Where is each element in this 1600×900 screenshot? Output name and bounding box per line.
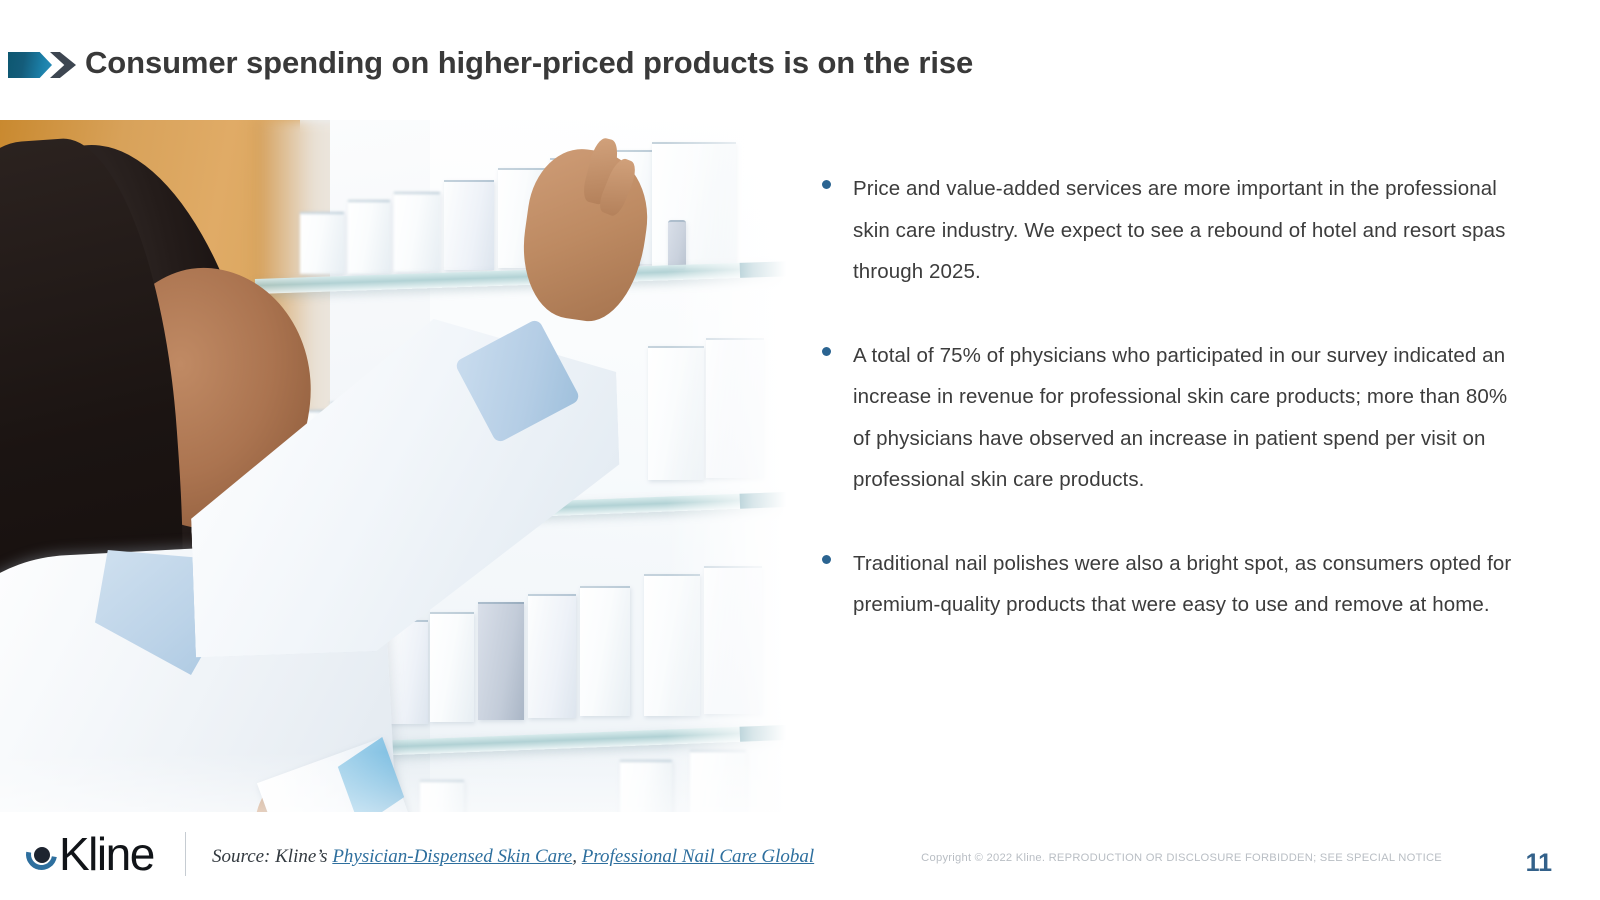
product-box (348, 200, 390, 274)
list-item: A total of 75% of physicians who partici… (822, 335, 1512, 501)
bullet-text: A total of 75% of physicians who partici… (853, 335, 1512, 501)
hero-photo (0, 120, 786, 812)
product-box (430, 612, 474, 722)
bullet-dot-icon (822, 555, 831, 564)
kline-logo: Kline (26, 830, 154, 878)
kline-logo-mark-icon (26, 836, 62, 872)
source-line: Source: Kline’s Physician-Dispensed Skin… (212, 846, 814, 868)
page-title: Consumer spending on higher-priced produ… (85, 45, 973, 81)
bullet-list: Price and value-added services are more … (822, 168, 1512, 668)
footer-divider (185, 832, 186, 876)
bullet-dot-icon (822, 180, 831, 189)
logo-core-icon (34, 847, 50, 863)
bullet-text: Traditional nail polishes were also a br… (853, 543, 1512, 626)
product-box (580, 586, 630, 716)
footer: Kline Source: Kline’s Physician-Dispense… (0, 812, 1600, 900)
product-box (444, 180, 494, 270)
list-item: Price and value-added services are more … (822, 168, 1512, 293)
product-box (300, 212, 344, 274)
source-prefix: Source: Kline’s (212, 846, 332, 867)
bullet-text: Price and value-added services are more … (853, 168, 1512, 293)
arrow-block-icon (8, 52, 52, 78)
source-link-skin-care[interactable]: Physician-Dispensed Skin Care (332, 846, 572, 867)
copyright-notice: Copyright © 2022 Kline. REPRODUCTION OR … (921, 852, 1442, 864)
page-number: 11 (1526, 849, 1552, 878)
product-box (528, 594, 576, 718)
source-separator: , (572, 846, 582, 867)
logo-wordmark: Kline (59, 831, 154, 877)
product-box (394, 192, 440, 272)
photo-fade-right (666, 120, 786, 812)
bullet-dot-icon (822, 347, 831, 356)
title-arrow-icon (0, 48, 75, 78)
slide: Consumer spending on higher-priced produ… (0, 0, 1600, 900)
title-row: Consumer spending on higher-priced produ… (0, 28, 1600, 98)
list-item: Traditional nail polishes were also a br… (822, 543, 1512, 626)
product-box (478, 602, 524, 720)
source-link-nail-care[interactable]: Professional Nail Care Global (582, 846, 814, 867)
photo-fade-bottom (0, 752, 786, 812)
chevron-right-icon (50, 52, 76, 78)
